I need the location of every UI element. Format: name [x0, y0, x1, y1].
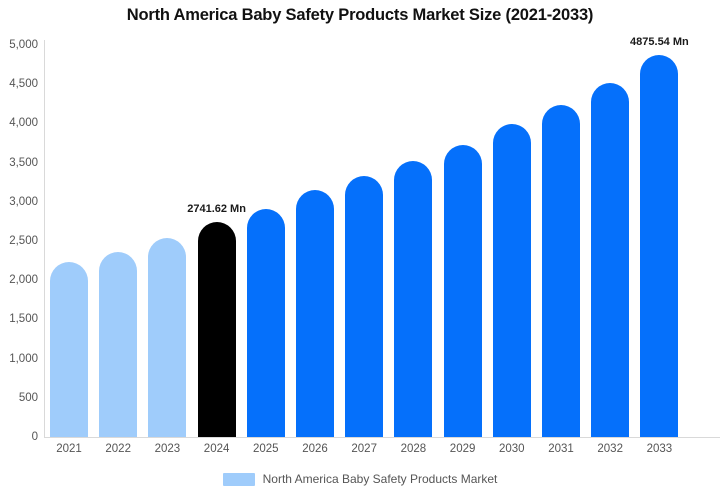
- chart-container: North America Baby Safety Products Marke…: [0, 0, 720, 500]
- data-label-2024: 2741.62 Mn: [187, 203, 246, 215]
- legend-swatch: [223, 473, 255, 486]
- y-axis-tick-label: 5,000: [0, 39, 38, 51]
- bar-2030[interactable]: [493, 124, 531, 437]
- y-axis-tick-label: 0: [0, 431, 38, 443]
- bar-2032[interactable]: [591, 83, 629, 437]
- legend-label: North America Baby Safety Products Marke…: [263, 472, 498, 486]
- y-axis-tick-label: 4,500: [0, 78, 38, 90]
- bar-2026[interactable]: [296, 190, 334, 437]
- bar-2025[interactable]: [247, 209, 285, 437]
- y-axis-tick-label: 2,000: [0, 274, 38, 286]
- plot-area: [44, 45, 720, 437]
- bar-2023[interactable]: [148, 238, 186, 437]
- bar-2031[interactable]: [542, 105, 580, 437]
- bar-2022[interactable]: [99, 252, 137, 437]
- x-axis-line: [44, 437, 720, 438]
- x-axis-tick-label: 2033: [629, 443, 689, 455]
- data-label-2033: 4875.54 Mn: [630, 36, 689, 48]
- bar-2024[interactable]: [198, 222, 236, 437]
- bar-2028[interactable]: [394, 161, 432, 437]
- y-axis-tick-label: 3,500: [0, 157, 38, 169]
- bar-2027[interactable]: [345, 176, 383, 437]
- bar-2033[interactable]: [640, 55, 678, 437]
- y-axis-tick-label: 500: [0, 392, 38, 404]
- chart-legend: North America Baby Safety Products Marke…: [0, 472, 720, 486]
- y-axis-tick-label: 1,000: [0, 353, 38, 365]
- bar-2029[interactable]: [444, 145, 482, 437]
- y-axis-labels: 5,0004,5004,0003,5003,0002,5002,0001,500…: [0, 0, 40, 500]
- x-axis-labels: 2021202220232024202520262027202820292030…: [44, 443, 720, 465]
- y-axis-tick-label: 2,500: [0, 235, 38, 247]
- chart-title: North America Baby Safety Products Marke…: [0, 6, 720, 25]
- bar-2021[interactable]: [50, 262, 88, 437]
- y-axis-tick-label: 1,500: [0, 313, 38, 325]
- y-axis-tick-label: 4,000: [0, 117, 38, 129]
- y-axis-tick-label: 3,000: [0, 196, 38, 208]
